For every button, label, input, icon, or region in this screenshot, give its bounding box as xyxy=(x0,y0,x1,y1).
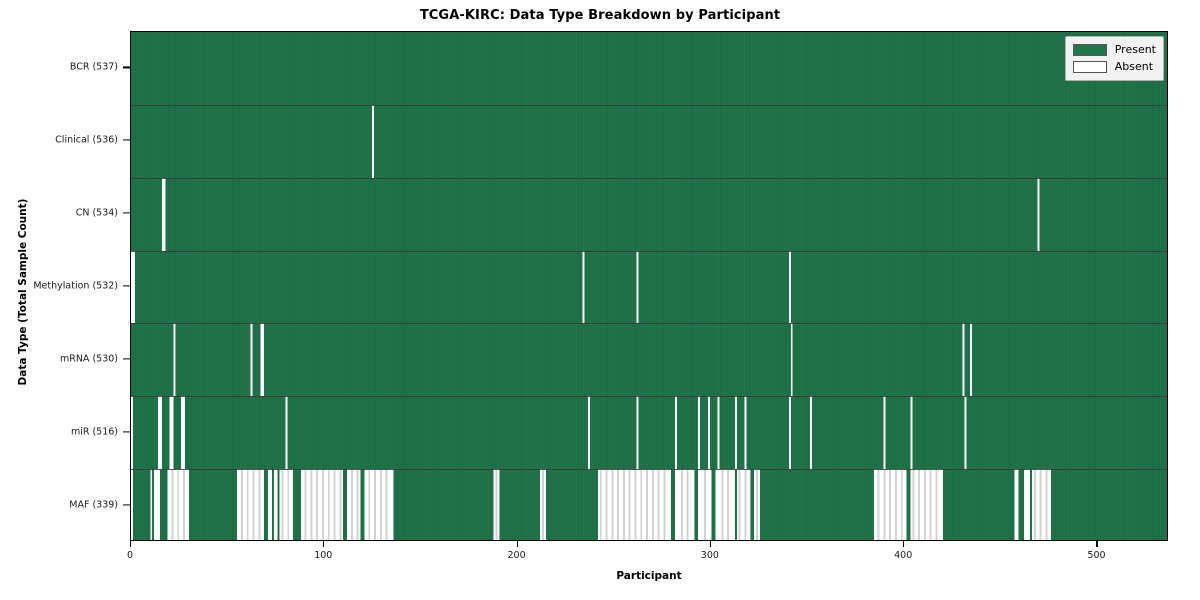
x-axis-title: Participant xyxy=(130,570,1168,582)
heatmap-row-divider xyxy=(131,251,1167,252)
legend-swatch-present xyxy=(1073,44,1107,56)
y-tick-mark xyxy=(123,67,130,68)
heatmap-column-separators xyxy=(131,178,1167,251)
x-tick-mark xyxy=(710,541,711,547)
legend-label-present: Present xyxy=(1115,43,1156,56)
heatmap-column-separators xyxy=(131,105,1167,178)
heatmap-column-separators xyxy=(131,469,1167,541)
x-tick-mark xyxy=(323,541,324,547)
x-tick-label: 300 xyxy=(701,550,719,561)
x-tick-mark xyxy=(130,541,131,547)
legend-entry-absent: Absent xyxy=(1073,58,1156,75)
heatmap-column-separators xyxy=(131,396,1167,469)
y-tick-mark xyxy=(123,140,130,141)
y-tick-label-clinical: Clinical (536) xyxy=(55,135,118,146)
y-tick-mark xyxy=(123,504,130,505)
y-tick-label-methylation: Methylation (532) xyxy=(33,281,118,292)
chart-figure: TCGA-KIRC: Data Type Breakdown by Partic… xyxy=(0,0,1200,600)
x-tick-mark xyxy=(1096,541,1097,547)
heatmap-row-cn xyxy=(131,178,1167,251)
heatmap-column-separators xyxy=(131,32,1167,105)
y-tick-mark xyxy=(123,213,130,214)
heatmap-column-separators xyxy=(131,251,1167,324)
heatmap-row-divider xyxy=(131,323,1167,324)
heatmap-row-methylation xyxy=(131,251,1167,324)
heatmap-row-divider xyxy=(131,469,1167,470)
heatmap-row-divider xyxy=(131,396,1167,397)
heatmap-row-clinical xyxy=(131,105,1167,178)
legend-entry-present: Present xyxy=(1073,41,1156,58)
y-tick-label-bcr: BCR (537) xyxy=(70,62,118,73)
heatmap-row-mrna xyxy=(131,323,1167,396)
heatmap-column-separators xyxy=(131,323,1167,396)
chart-title: TCGA-KIRC: Data Type Breakdown by Partic… xyxy=(0,8,1200,23)
chart-legend: PresentAbsent xyxy=(1065,36,1164,81)
x-tick-label: 100 xyxy=(314,550,332,561)
y-axis-title: Data Type (Total Sample Count) xyxy=(17,177,29,407)
x-tick-mark xyxy=(517,541,518,547)
x-tick-label: 0 xyxy=(127,550,133,561)
x-tick-mark xyxy=(903,541,904,547)
x-tick-label: 400 xyxy=(894,550,912,561)
x-tick-label: 500 xyxy=(1087,550,1105,561)
y-tick-label-mir: miR (516) xyxy=(71,426,118,437)
y-tick-label-mrna: mRNA (530) xyxy=(60,353,118,364)
legend-swatch-absent xyxy=(1073,61,1107,73)
heatmap-plot-area xyxy=(130,31,1168,541)
y-tick-mark xyxy=(123,431,130,432)
legend-label-absent: Absent xyxy=(1115,60,1153,73)
heatmap-row-divider xyxy=(131,178,1167,179)
heatmap-row-divider xyxy=(131,105,1167,106)
heatmap-row-bcr xyxy=(131,32,1167,105)
y-tick-mark xyxy=(123,358,130,359)
y-tick-mark xyxy=(123,285,130,286)
x-tick-label: 200 xyxy=(508,550,526,561)
heatmap-row-maf xyxy=(131,469,1167,541)
y-tick-label-cn: CN (534) xyxy=(76,208,118,219)
heatmap-row-mir xyxy=(131,396,1167,469)
y-tick-label-maf: MAF (339) xyxy=(69,499,118,510)
